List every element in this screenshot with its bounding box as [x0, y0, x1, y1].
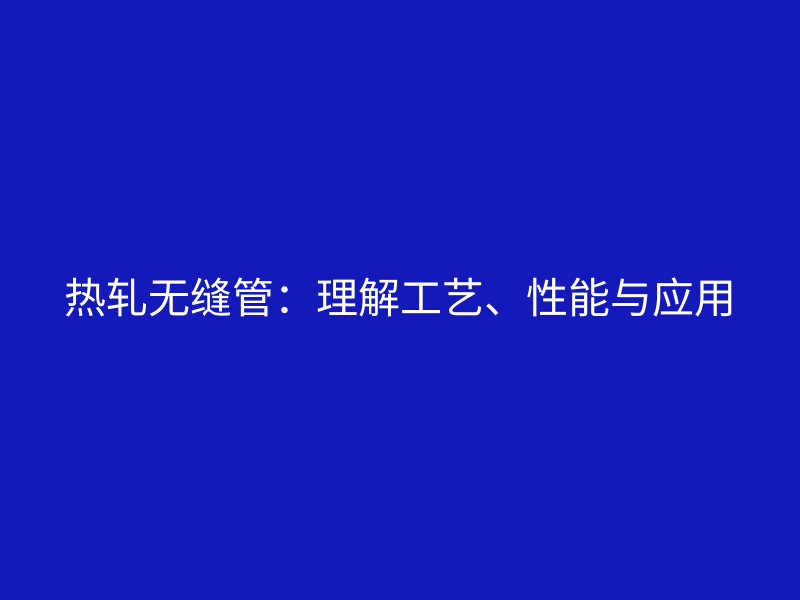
page-title: 热轧无缝管：理解工艺、性能与应用: [64, 275, 736, 322]
title-slide: 热轧无缝管：理解工艺、性能与应用: [0, 0, 800, 600]
title-block: 热轧无缝管：理解工艺、性能与应用: [0, 275, 800, 322]
